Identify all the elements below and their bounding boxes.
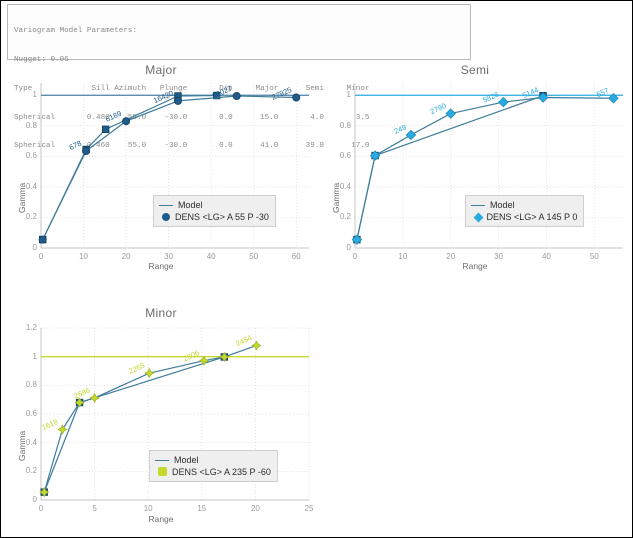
data-point-label: 2454 [234,333,253,348]
x-tick-label: 40 [199,252,223,261]
data-point [122,118,129,125]
legend-label: Model [178,200,203,210]
legend-line-swatch [471,205,485,206]
x-tick-label: 10 [136,504,160,513]
chart-semi-plot-area: 2492790582651445570102030405000.20.40.60… [355,83,623,248]
x-tick-label: 0 [29,252,53,261]
x-tick-label: 20 [243,504,267,513]
x-tick-label: 15 [190,504,214,513]
params-title: Variogram Model Parameters: [14,27,466,37]
x-tick-label: 0 [29,504,53,513]
legend-line-swatch [159,205,173,206]
x-tick-label: 50 [582,252,606,261]
data-point-label: 27925 [270,85,293,102]
x-tick-label: 20 [114,252,138,261]
chart-minor: Minor Gamma Range 1618268622652306245405… [5,306,317,534]
data-point [58,425,67,434]
data-point-label: 2790 [429,101,448,116]
data-point-label: 2686 [73,386,92,401]
y-tick-label: 0.6 [11,151,37,160]
y-tick-label: 1 [11,90,37,99]
legend-label: DENS <LG> A 235 P -60 [172,467,271,477]
data-point-label: 2306 [182,348,201,363]
chart-minor-title: Minor [5,306,317,320]
data-point-label: 249 [393,123,408,136]
data-point [233,92,240,99]
chart-minor-plot-area: 16182686226523062454051015202500.20.40.6… [41,328,309,500]
x-tick-label: 40 [534,252,558,261]
data-point-label: 2265 [127,361,146,376]
y-tick-label: 0.8 [325,121,351,130]
chart-major-title: Major [5,63,317,77]
data-point-label: 5826 [481,90,500,105]
y-tick-label: 0 [11,243,37,252]
y-tick-label: 0.4 [325,182,351,191]
y-tick-label: 0 [325,243,351,252]
data-point [102,126,109,133]
data-point [145,369,154,378]
x-tick-label: 25 [297,504,321,513]
legend-label: DENS <LG> A 145 P 0 [487,212,578,222]
legend-marker-swatch [159,208,170,226]
y-tick-label: 0.4 [11,438,37,447]
y-tick-label: 0.8 [11,121,37,130]
variogram-parameters-block: Variogram Model Parameters: Nugget: 0.06… [7,4,471,60]
data-point-label: 1618 [40,417,59,432]
x-tick-label: 0 [343,252,367,261]
data-point-label: 678 [68,139,83,152]
chart-legend[interactable]: ModelDENS <LG> A 145 P 0 [465,195,584,227]
legend-item-model[interactable]: Model [471,199,577,211]
chart-semi-title: Semi [319,63,631,77]
y-tick-label: 1 [325,90,351,99]
legend-marker-swatch [155,463,167,481]
y-tick-label: 0.8 [11,380,37,389]
data-point-label: 557 [595,86,610,99]
y-tick-label: 0.4 [11,182,37,191]
chart-semi: Semi Gamma Range 24927905826514455701020… [319,63,631,281]
data-point [82,147,89,154]
legend-item-model[interactable]: Model [159,199,269,211]
legend-marker-swatch [471,208,482,226]
x-tick-label: 30 [157,252,181,261]
legend-line-swatch [155,460,169,461]
legend-label: DENS <LG> A 55 P -30 [175,212,269,222]
legend-item-dataset[interactable]: DENS <LG> A 235 P -60 [155,466,271,478]
chart-legend[interactable]: ModelDENS <LG> A 235 P -60 [149,450,278,482]
y-tick-label: 0.2 [11,466,37,475]
data-point [446,109,455,118]
x-tick-label: 50 [242,252,266,261]
data-point [39,236,46,243]
legend-label: Model [490,200,515,210]
data-point [293,94,300,101]
y-tick-label: 0.6 [325,151,351,160]
legend-item-model[interactable]: Model [155,454,271,466]
data-point [499,97,508,106]
data-point [252,341,261,350]
x-tick-label: 5 [83,504,107,513]
chart-major: Major Gamma Range 6786189164202602727925… [5,63,317,281]
x-tick-label: 10 [72,252,96,261]
data-point [406,130,415,139]
data-point-label: 6189 [104,109,123,124]
y-tick-label: 0.2 [11,212,37,221]
x-tick-label: 60 [284,252,308,261]
x-tick-label: 10 [391,252,415,261]
y-tick-label: 1.2 [11,323,37,332]
legend-item-dataset[interactable]: DENS <LG> A 145 P 0 [471,211,577,223]
chart-major-plot-area: 6786189164202602727925010203040506000.20… [41,83,309,248]
x-tick-label: 30 [487,252,511,261]
variogram-report-page: Variogram Model Parameters: Nugget: 0.06… [0,0,633,538]
legend-item-dataset[interactable]: DENS <LG> A 55 P -30 [159,211,269,223]
chart-legend[interactable]: ModelDENS <LG> A 55 P -30 [153,195,276,227]
y-tick-label: 0.2 [325,212,351,221]
y-tick-label: 0 [11,495,37,504]
data-point [90,394,99,403]
legend-label: Model [174,455,199,465]
data-point [174,97,181,104]
y-tick-label: 0.6 [11,409,37,418]
y-tick-label: 1 [11,352,37,361]
x-tick-label: 20 [439,252,463,261]
